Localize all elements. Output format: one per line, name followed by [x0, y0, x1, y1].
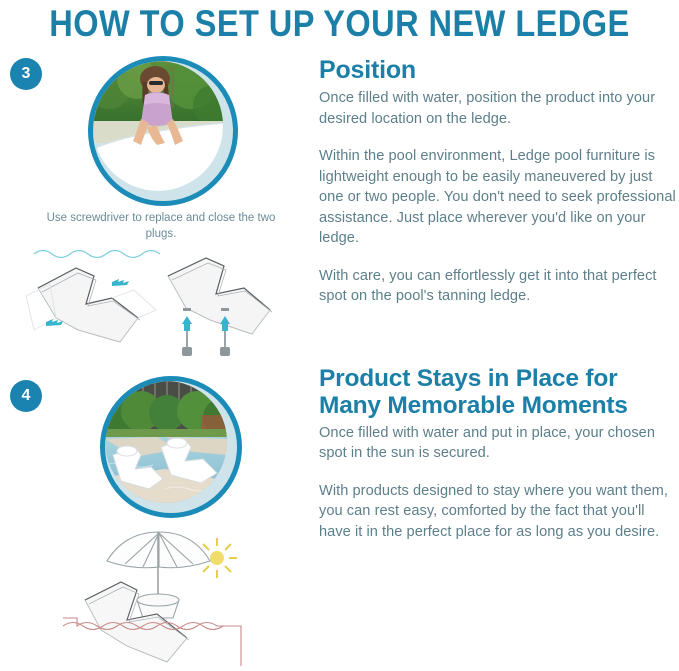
step-3-illustration	[16, 246, 306, 361]
section-2-heading: Product Stays in Place for Many Memorabl…	[319, 365, 679, 419]
step-4-photo-image	[105, 381, 237, 513]
screwdriver-tool-left	[182, 308, 192, 356]
step-3-photo-image	[93, 61, 233, 201]
section-2-paragraph-2: With products designed to stay where you…	[319, 481, 679, 543]
infographic-page: HOW TO SET UP YOUR NEW LEDGE 3	[0, 0, 679, 671]
step-3-photo	[88, 56, 238, 206]
page-title: HOW TO SET UP YOUR NEW LEDGE	[41, 0, 639, 48]
section-1-paragraph-2: Within the pool environment, Ledge pool …	[319, 146, 679, 249]
lounge-chair-bottom	[85, 582, 189, 662]
water-wave-line	[34, 251, 160, 258]
step-4-number: 4	[22, 387, 31, 405]
section-position: Position Once filled with water, positio…	[319, 56, 679, 307]
section-1-paragraph-3: With care, you can effortlessly get it i…	[319, 266, 679, 307]
step-3-number: 3	[22, 65, 31, 83]
section-1-paragraph-1: Once filled with water, position the pro…	[319, 88, 679, 129]
step-3-badge: 3	[10, 58, 42, 90]
chair-water-screwdriver-diagram	[16, 246, 306, 361]
section-2-heading-line-1: Product Stays in Place for	[319, 365, 617, 392]
step-4-badge: 4	[10, 380, 42, 412]
pool-ledge-photo-illustration	[93, 61, 223, 191]
section-2-heading-line-2: Many Memorable Moments	[319, 392, 628, 419]
lounge-chair-left	[26, 268, 156, 342]
left-visual-column: 3	[0, 48, 312, 671]
section-product-stays-in-place: Product Stays in Place for Many Memorabl…	[319, 365, 679, 543]
step-4-illustration	[55, 526, 305, 666]
umbrella-sun-lounger-diagram	[55, 526, 305, 666]
section-1-heading: Position	[319, 56, 679, 84]
step-3-caption: Use screwdriver to replace and close the…	[30, 210, 292, 242]
two-loungers-in-pool-illustration	[105, 381, 227, 503]
section-2-paragraph-1: Once filled with water and put in place,…	[319, 423, 679, 464]
step-4-photo	[100, 376, 242, 518]
right-text-column: Position Once filled with water, positio…	[319, 56, 679, 542]
